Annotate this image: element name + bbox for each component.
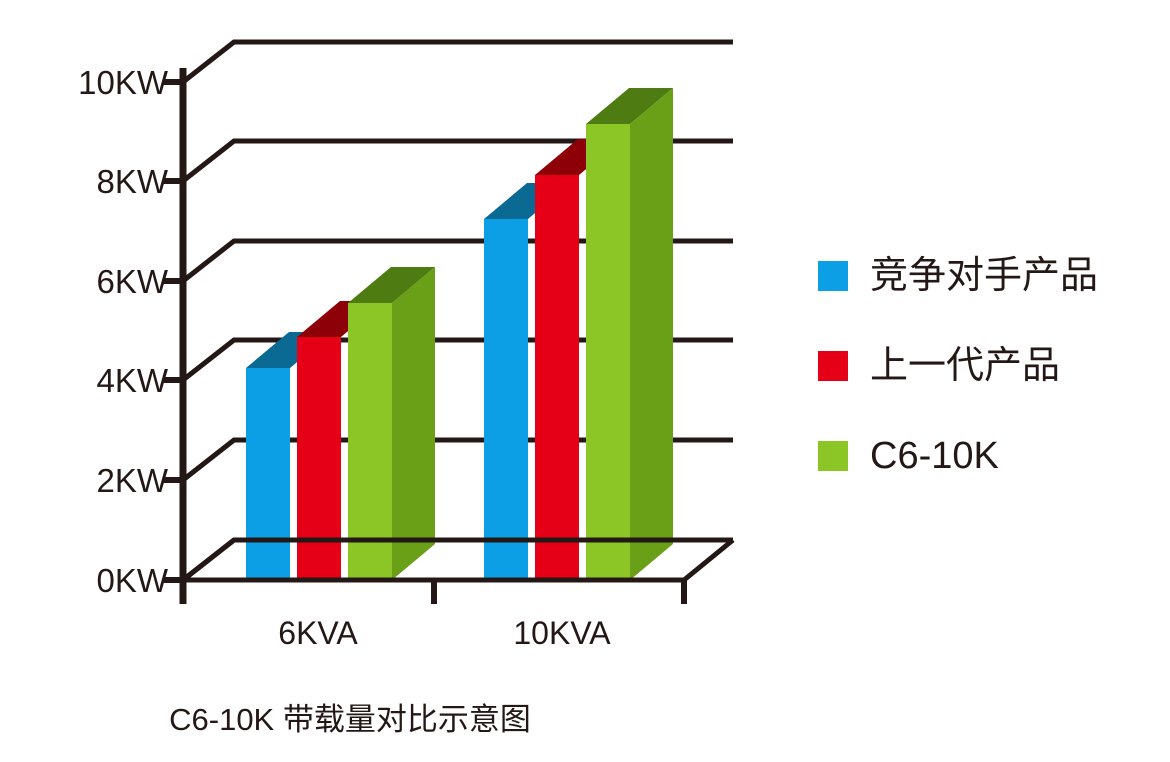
legend-label-previous: 上一代产品 xyxy=(870,347,1060,385)
y-tick-label-8kw: 8KW xyxy=(18,163,168,201)
bar-side-face xyxy=(630,88,673,580)
gridline-10kw xyxy=(183,42,733,82)
legend-swatch-blue xyxy=(818,261,848,291)
bar-front-face xyxy=(586,124,630,580)
x-axis-ticks xyxy=(183,580,684,604)
legend-item-previous[interactable]: 上一代产品 xyxy=(818,328,1158,404)
y-tick-label-4kw: 4KW xyxy=(18,362,168,400)
bar-side-face xyxy=(392,267,435,580)
y-tick-label-2kw: 2KW xyxy=(18,462,168,500)
y-tick-label-10kw: 10KW xyxy=(18,64,168,102)
legend-label-competitor: 竞争对手产品 xyxy=(870,257,1098,295)
bar-10kva-c610k xyxy=(586,88,673,580)
chart-container: 10KW 8KW 6KW 4KW 2KW 0KW 6KVA 10KVA 竞争对手… xyxy=(0,0,1170,762)
bar-front-face xyxy=(484,219,528,580)
legend-item-competitor[interactable]: 竞争对手产品 xyxy=(818,238,1158,314)
bar-front-face xyxy=(535,175,579,580)
x-tick-label-10kva: 10KVA xyxy=(462,615,662,652)
y-tick-label-0kw: 0KW xyxy=(18,562,168,600)
legend-swatch-red xyxy=(818,351,848,381)
bar-front-face xyxy=(246,368,290,580)
legend-swatch-green xyxy=(818,441,848,471)
x-tick-label-6kva: 6KVA xyxy=(218,615,418,652)
bar-6kva-c610k xyxy=(348,267,435,580)
chart-caption: C6-10K 带载量对比示意图 xyxy=(0,694,700,739)
legend-label-c610k: C6-10K xyxy=(870,437,999,475)
y-tick-label-6kw: 6KW xyxy=(18,263,168,301)
legend-item-c610k[interactable]: C6-10K xyxy=(818,418,1158,494)
legend: 竞争对手产品 上一代产品 C6-10K xyxy=(818,238,1158,508)
bar-front-face xyxy=(297,337,341,580)
